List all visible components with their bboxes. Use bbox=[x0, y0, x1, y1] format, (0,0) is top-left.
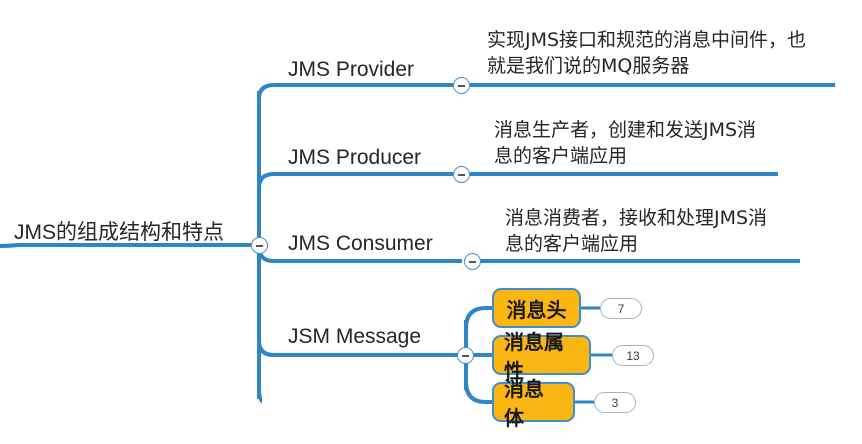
branch-collapse-toggle-jms-provider[interactable] bbox=[453, 77, 470, 94]
branch-collapse-toggle-jms-consumer[interactable] bbox=[464, 253, 481, 270]
branch-label-jms-consumer[interactable]: JMS Consumer bbox=[288, 231, 433, 256]
child-node-message-header[interactable]: 消息头 bbox=[492, 288, 581, 328]
branch-detail-jms-provider[interactable]: 实现JMS接口和规范的消息中间件，也 就是我们说的MQ服务器 bbox=[487, 27, 837, 79]
branch-detail-jms-producer[interactable]: 消息生产者，创建和发送JMS消 息的客户端应用 bbox=[494, 117, 824, 169]
branch-label-jsm-message[interactable]: JSM Message bbox=[288, 324, 421, 349]
mindmap-canvas: JMS的组成结构和特点 JMS Provider 实现JMS接口和规范的消息中间… bbox=[0, 0, 862, 444]
child-node-message-body[interactable]: 消息体 bbox=[492, 382, 575, 422]
child-node-message-properties[interactable]: 消息属性 bbox=[492, 335, 591, 375]
child-count-message-body[interactable]: 3 bbox=[594, 392, 636, 413]
branch-label-jms-provider[interactable]: JMS Provider bbox=[288, 57, 414, 82]
branch-collapse-toggle-jms-producer[interactable] bbox=[453, 166, 470, 183]
branch-label-jms-producer[interactable]: JMS Producer bbox=[288, 145, 421, 170]
root-node-label[interactable]: JMS的组成结构和特点 bbox=[14, 220, 224, 245]
child-count-message-properties[interactable]: 13 bbox=[612, 345, 654, 366]
branch-detail-jms-consumer[interactable]: 消息消费者，接收和处理JMS消 息的客户端应用 bbox=[505, 205, 835, 257]
root-collapse-toggle[interactable] bbox=[251, 237, 268, 254]
branch-collapse-toggle-jsm-message[interactable] bbox=[457, 347, 474, 364]
child-count-message-header[interactable]: 7 bbox=[600, 298, 642, 319]
